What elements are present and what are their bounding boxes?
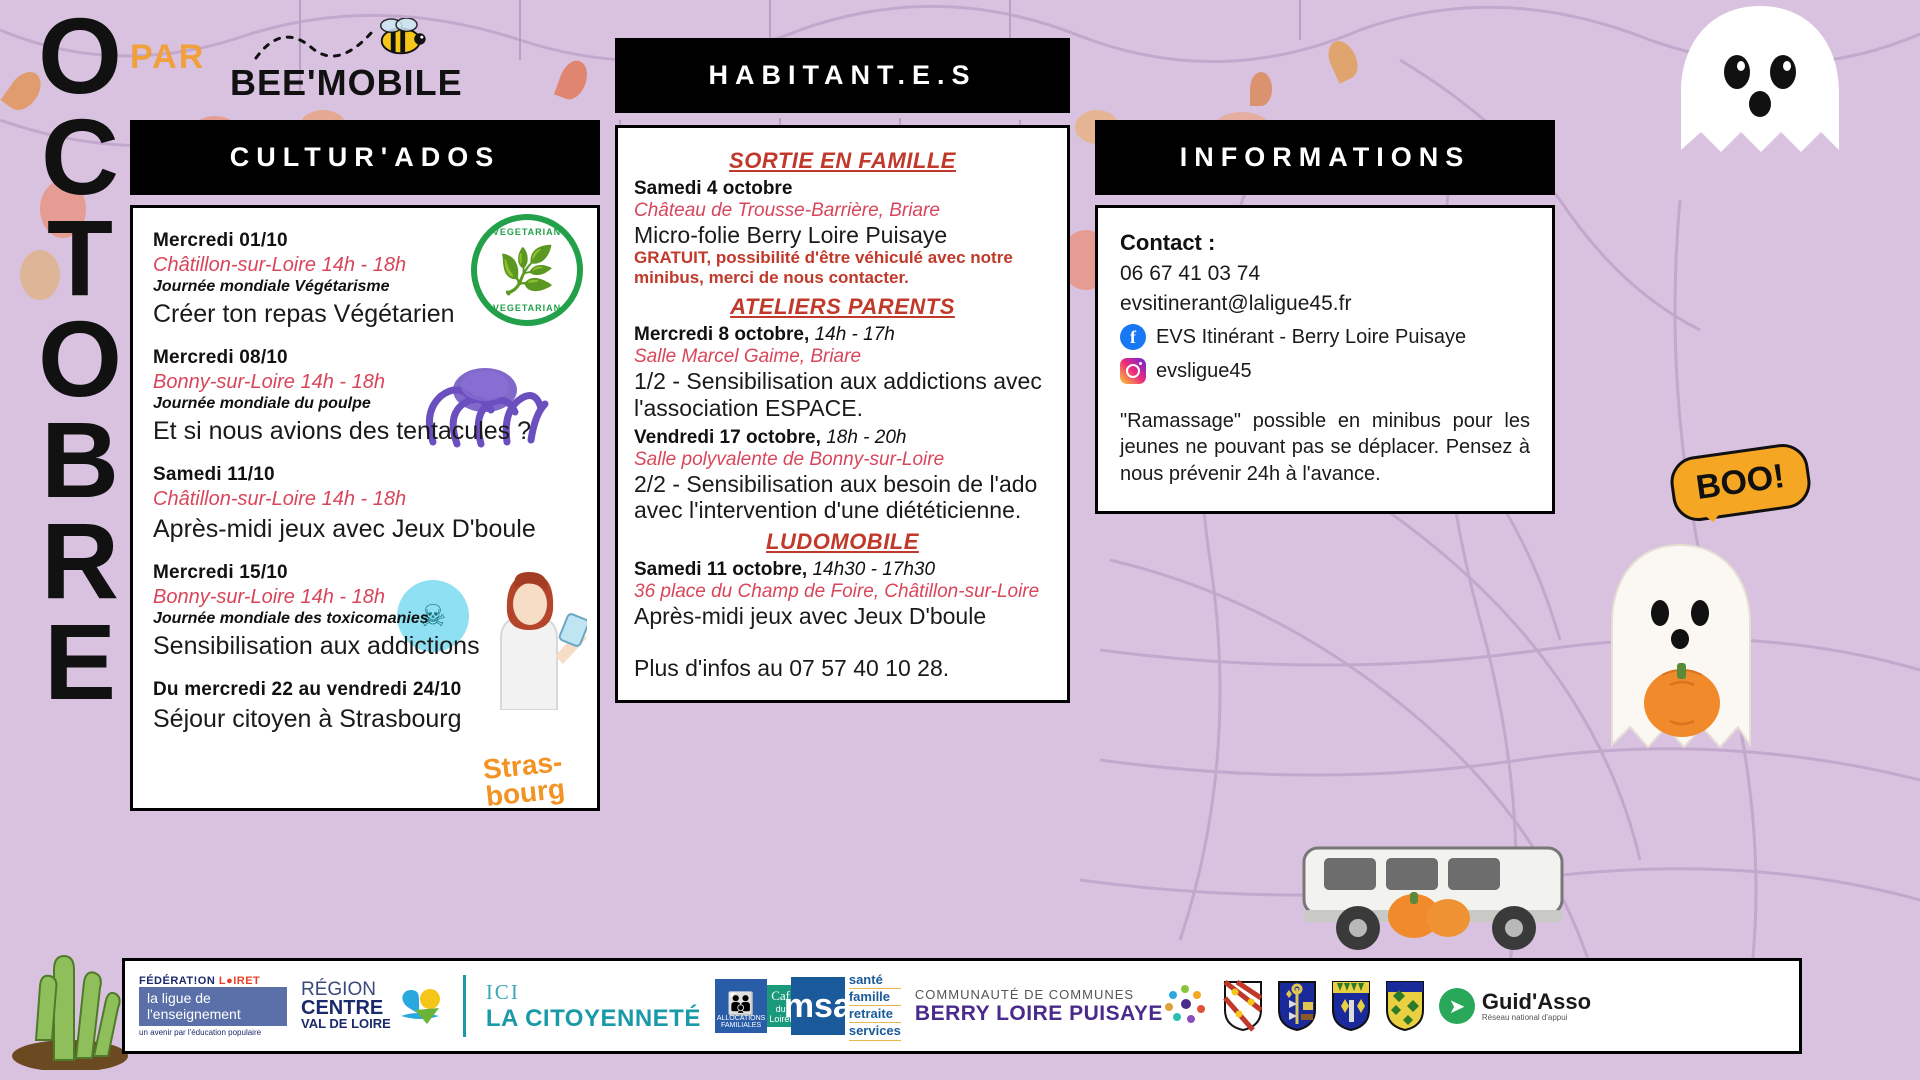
event-item: Samedi 11/10 Châtillon-sur-Loire 14h - 1… (153, 464, 577, 544)
habitants-card: SORTIE EN FAMILLE Samedi 4 octobre Châte… (615, 125, 1070, 703)
bee-trail-icon (252, 18, 382, 66)
event-time: 14h - 17h (815, 324, 895, 345)
ici-line-1: ICI (486, 980, 701, 1005)
event-warning: GRATUIT, possibilité d'être véhiculé ave… (634, 248, 1051, 288)
coat-of-arms-icon (1277, 980, 1317, 1032)
event-time: 18h - 20h (826, 427, 906, 448)
region-line-3: VAL DE LOIRE (301, 1018, 391, 1030)
caf-top: 👪 ALLOCATIONS FAMILIALES (715, 979, 768, 1033)
guidasso-sub: Réseau national d'appui (1482, 1013, 1591, 1022)
event-item: Samedi 11 octobre, 14h30 - 17h30 36 plac… (634, 559, 1051, 629)
logo-region-centre-val-de-loire: RÉGION CENTRE VAL DE LOIRE (301, 981, 443, 1030)
column-informations: INFORMATIONS Contact : 06 67 41 03 74 ev… (1095, 120, 1555, 514)
column-habitants: HABITANT.E.S SORTIE EN FAMILLE Samedi 4 … (615, 38, 1070, 703)
ligue-federation-text: FÉDÉRAT!ON L●IRET (139, 975, 287, 987)
par-label: PAR (130, 38, 205, 77)
minibus-icon (1290, 812, 1590, 962)
section-title: LUDOMOBILE (634, 529, 1051, 555)
section-title: SORTIE EN FAMILLE (634, 148, 1051, 174)
coat-of-arms-icon (1385, 980, 1425, 1032)
partner-logo-bar: FÉDÉRAT!ON L●IRET la ligue de l'enseigne… (122, 958, 1802, 1054)
event-title: Après-midi jeux avec Jeux D'boule (153, 515, 577, 544)
ligue-line-2: l'enseignement (147, 1007, 279, 1022)
event-location: Châtillon-sur-Loire 14h - 18h (153, 488, 577, 511)
event-date: Mercredi 01/10 (153, 230, 577, 252)
octobre-letter: E (44, 614, 116, 709)
event-title: Séjour citoyen à Strasbourg (153, 705, 577, 734)
column-cultur-ados: CULTUR'ADOS VEGETARIAN 🌿 VEGETARIAN ☠ (130, 120, 600, 811)
guidasso-name: Guid'Asso (1482, 991, 1591, 1013)
region-heart-icon (397, 986, 443, 1026)
ligue-box: la ligue de l'enseignement (139, 987, 287, 1026)
event-date: Mercredi 15/10 (153, 562, 577, 584)
event-item: Samedi 4 octobre Château de Trousse-Barr… (634, 178, 1051, 288)
event-title: Sensibilisation aux addictions (153, 632, 577, 661)
octobre-letter: R (41, 513, 119, 608)
instagram-row[interactable]: evsligue45 (1120, 358, 1530, 384)
ccblp-line-2: BERRY LOIRE PUISAYE (915, 1002, 1163, 1026)
contact-label: Contact : (1120, 230, 1530, 256)
section-title: ATELIERS PARENTS (634, 294, 1051, 320)
facebook-icon[interactable]: f (1120, 324, 1146, 350)
event-title: Créer ton repas Végétarien (153, 300, 577, 329)
zombie-hand-icon (10, 890, 130, 1070)
msa-words: santé famille retraite services (849, 972, 901, 1041)
logo-msa: msa santé famille retraite services (791, 972, 901, 1041)
event-date: Samedi 11/10 (153, 464, 577, 486)
beemobile-wordmark: BEE'MOBILE (230, 62, 463, 104)
informations-header: INFORMATIONS (1095, 120, 1555, 195)
event-date: Du mercredi 22 au vendredi 24/10 (153, 679, 577, 701)
event-title: Après-midi jeux avec Jeux D'boule (634, 603, 1051, 629)
logo-ligue-enseignement: FÉDÉRAT!ON L●IRET la ligue de l'enseigne… (139, 975, 287, 1037)
facebook-handle[interactable]: EVS Itinérant - Berry Loire Puisaye (1156, 326, 1466, 349)
more-info-text: Plus d'infos au 07 57 40 10 28. (634, 655, 1051, 682)
octobre-letter: T (47, 210, 113, 305)
informations-card: Contact : 06 67 41 03 74 evsitinerant@la… (1095, 205, 1555, 514)
event-date-text: Samedi 11 octobre, (634, 559, 807, 580)
octobre-letter: B (41, 412, 119, 507)
coat-of-arms-icon (1223, 980, 1263, 1032)
page-title-octobre: O C T O B R E (20, 8, 140, 908)
msa-word: retraite (849, 1006, 901, 1023)
event-world-day: Journée mondiale Végétarisme (153, 278, 577, 296)
octobre-letter: C (41, 109, 119, 204)
event-time: 14h30 - 17h30 (812, 559, 935, 580)
event-date-text: Vendredi 17 octobre, (634, 427, 821, 448)
msa-mark: msa (791, 977, 845, 1035)
contact-phone[interactable]: 06 67 41 03 74 (1120, 262, 1530, 286)
logo-berry-loire-puisaye: COMMUNAUTÉ DE COMMUNES BERRY LOIRE PUISA… (915, 983, 1209, 1029)
octobre-letter: O (38, 311, 122, 406)
event-location: Bonny-sur-Loire 14h - 18h (153, 371, 577, 394)
strasbourg-logo: Stras- bourg (457, 746, 592, 812)
instagram-handle[interactable]: evsligue45 (1156, 360, 1252, 383)
guidasso-compass-icon: ➤ (1439, 988, 1475, 1024)
event-location: Châtillon-sur-Loire 14h - 18h (153, 254, 577, 277)
coat-of-arms-icon (1331, 980, 1371, 1032)
event-location: Bonny-sur-Loire 14h - 18h (153, 586, 577, 609)
event-item: Mercredi 8 octobre, 14h - 17h Salle Marc… (634, 324, 1051, 420)
cultur-ados-header: CULTUR'ADOS (130, 120, 600, 195)
event-item: Du mercredi 22 au vendredi 24/10 Séjour … (153, 679, 577, 734)
event-location: Château de Trousse-Barrière, Briare (634, 200, 1051, 222)
event-title: Micro-folie Berry Loire Puisaye (634, 222, 1051, 248)
event-location: 36 place du Champ de Foire, Châtillon-su… (634, 581, 1051, 603)
event-date-text: Mercredi 8 octobre, (634, 324, 809, 345)
bee-icon (368, 18, 426, 60)
event-world-day: Journée mondiale du poulpe (153, 395, 577, 413)
event-location: Salle Marcel Gaime, Briare (634, 346, 1051, 368)
event-date: Samedi 11 octobre, 14h30 - 17h30 (634, 559, 1051, 581)
caf-family-icon: 👪 (717, 993, 766, 1015)
facebook-row[interactable]: f EVS Itinérant - Berry Loire Puisaye (1120, 324, 1530, 350)
instagram-icon[interactable] (1120, 358, 1146, 384)
octobre-letter: O (38, 8, 122, 103)
event-item: Vendredi 17 octobre, 18h - 20h Salle pol… (634, 427, 1051, 523)
ligue-baseline: un avenir par l'éducation populaire (139, 1028, 287, 1037)
ligue-line-1: la ligue de (147, 991, 279, 1006)
logo-caf-loiret: 👪 ALLOCATIONS FAMILIALES Caf du Loiret (715, 979, 777, 1033)
transport-note: "Ramassage" possible en minibus pour les… (1120, 408, 1530, 487)
event-date: Mercredi 08/10 (153, 347, 577, 369)
msa-word: famille (849, 989, 901, 1006)
event-date: Vendredi 17 octobre, 18h - 20h (634, 427, 1051, 449)
event-item: Mercredi 15/10 Bonny-sur-Loire 14h - 18h… (153, 562, 577, 661)
event-title: Et si nous avions des tentacules ? (153, 417, 577, 446)
event-location: Salle polyvalente de Bonny-sur-Loire (634, 449, 1051, 471)
msa-word: services (849, 1023, 901, 1040)
contact-email[interactable]: evsitinerant@laligue45.fr (1120, 292, 1530, 316)
ghost-with-pumpkin-icon (1590, 535, 1770, 785)
ici-line-2: LA CITOYENNETÉ (486, 1005, 701, 1033)
ghost-icon (1655, 0, 1865, 170)
event-title: 1/2 - Sensibilisation aux addictions ave… (634, 368, 1051, 420)
footer-divider (463, 975, 466, 1037)
logo-guid-asso: ➤ Guid'Asso Réseau national d'appui (1439, 988, 1591, 1024)
beemobile-logo: BEE'MOBILE (230, 62, 463, 104)
event-title: 2/2 - Sensibilisation aux besoin de l'ad… (634, 471, 1051, 523)
event-item: Mercredi 08/10 Bonny-sur-Loire 14h - 18h… (153, 347, 577, 446)
event-date: Mercredi 8 octobre, 14h - 17h (634, 324, 1051, 346)
cultur-ados-card: VEGETARIAN 🌿 VEGETARIAN ☠ (130, 205, 600, 811)
habitants-header: HABITANT.E.S (615, 38, 1070, 113)
event-world-day: Journée mondiale des toxicomanies (153, 610, 577, 628)
ccblp-line-1: COMMUNAUTÉ DE COMMUNES (915, 987, 1163, 1002)
event-date: Samedi 4 octobre (634, 178, 1051, 200)
logo-ici-la-citoyennete: ICI LA CITOYENNETÉ (486, 980, 701, 1033)
caf-allocations-text: ALLOCATIONS FAMILIALES (717, 1015, 766, 1029)
msa-word: santé (849, 972, 901, 989)
event-item: Mercredi 01/10 Châtillon-sur-Loire 14h -… (153, 230, 577, 329)
ccblp-dots-icon (1163, 983, 1209, 1029)
